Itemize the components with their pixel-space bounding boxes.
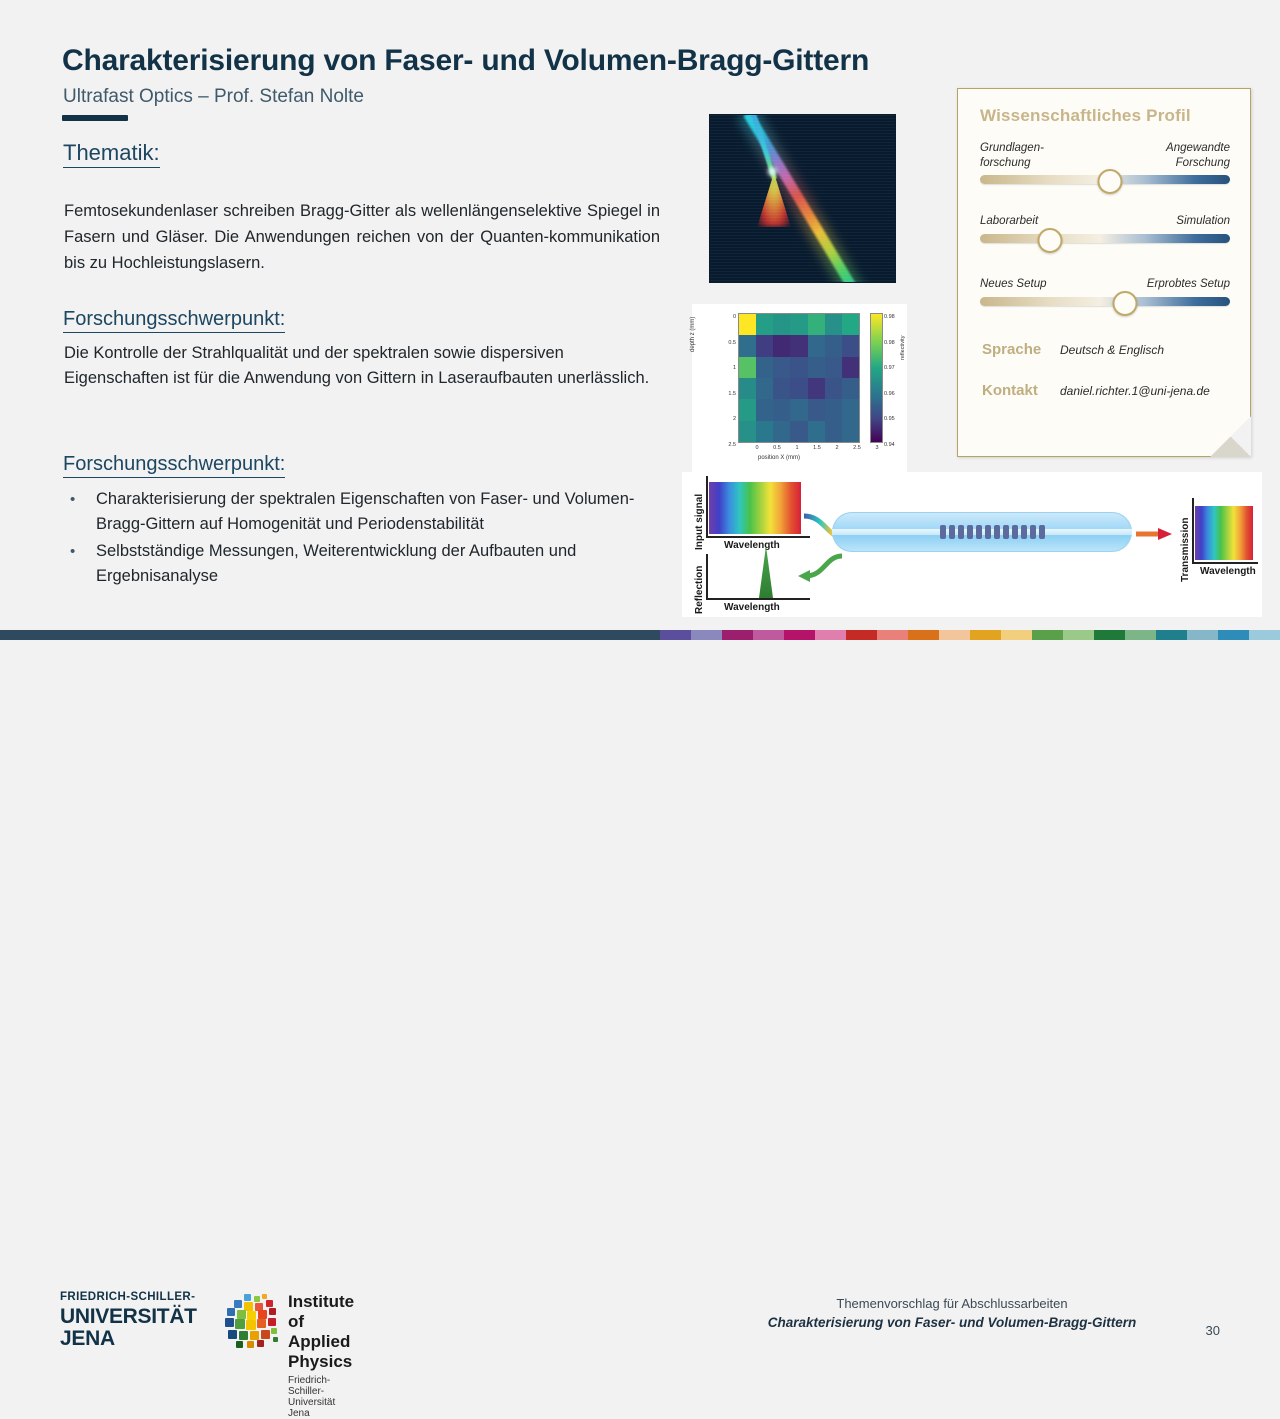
list-item: • Selbstständige Messungen, Weiterentwic… (64, 539, 664, 589)
page-title: Charakterisierung von Faser- und Volumen… (62, 44, 869, 78)
institute-mosaic-icon (224, 1294, 280, 1346)
slider-track-research-type[interactable] (980, 175, 1230, 184)
profile-field-language: SpracheDeutsch & Englisch (982, 341, 1164, 358)
university-logo-line1: FRIEDRICH-SCHILLER- (60, 1292, 197, 1304)
title-accent-bar (62, 115, 128, 121)
bullet-icon: • (70, 539, 75, 564)
heatmap-x-axis-label: position X (mm) (758, 455, 800, 461)
input-y-axis (706, 476, 708, 538)
section-heading-focus-1: Forschungsschwerpunkt: (63, 308, 285, 333)
university-logo-line3: JENA (60, 1328, 197, 1349)
profile-field-contact-key: Kontakt (982, 382, 1060, 399)
profile-card-title: Wissenschaftliches Profil (980, 106, 1191, 126)
profile-field-language-value: Deutsch & Englisch (1060, 343, 1164, 357)
bragg-grating-planes (940, 524, 1060, 540)
thematik-paragraph: Femtosekundenlaser schreiben Bragg-Gitte… (64, 198, 660, 276)
input-spectrum-swatch (709, 482, 801, 534)
card-folded-corner (1210, 416, 1251, 457)
university-logo-line2: UNIVERSITÄT (60, 1306, 197, 1327)
slider-left-label: Neues Setup (980, 277, 1047, 292)
footer: FRIEDRICH-SCHILLER- UNIVERSITÄT JENA Ins… (0, 640, 1280, 720)
slider-group-work-mode: Laborarbeit Simulation (980, 214, 1230, 243)
page-subtitle: Ultrafast Optics – Prof. Stefan Nolte (63, 86, 364, 108)
reflectivity-heatmap-figure: 00.511.522.5 00.511.522.53 depth z (mm) … (692, 304, 907, 476)
footer-caption-top: Themenvorschlag für Abschlussarbeiten (742, 1296, 1162, 1311)
profile-field-contact: Kontaktdaniel.richter.1@uni-jena.de (982, 382, 1210, 399)
profile-field-contact-value[interactable]: daniel.richter.1@uni-jena.de (1060, 384, 1210, 398)
fbg-input-wavelength-label: Wavelength (724, 540, 780, 551)
reflection-peak (759, 546, 773, 598)
slider-right-label: AngewandteForschung (1166, 141, 1230, 171)
institute-logo-text: Institute of Applied Physics Friedrich-S… (288, 1292, 354, 1419)
reflection-plot-area (709, 554, 807, 598)
slider-right-label: Simulation (1176, 214, 1230, 229)
footer-color-stripe (0, 630, 1280, 640)
footer-caption: Themenvorschlag für Abschlussarbeiten Ch… (742, 1296, 1162, 1330)
transmission-x-axis (1192, 562, 1258, 564)
list-item-label: Selbstständige Messungen, Weiterentwickl… (96, 542, 576, 585)
slider-left-label: Grundlagen-forschung (980, 141, 1044, 171)
institute-logo-line3: Friedrich-Schiller-Universität Jena (288, 1375, 354, 1419)
list-item-label: Charakterisierung der spektralen Eigensc… (96, 490, 634, 533)
reflection-y-axis (706, 554, 708, 600)
page-number: 30 (1206, 1323, 1220, 1338)
fbg-reflection-label: Reflection (694, 566, 705, 614)
heatmap-y-ticks: 00.511.522.5 (714, 310, 736, 442)
scanline-overlay (710, 115, 895, 282)
heatmap-colorbar (871, 314, 882, 442)
slide-root: Charakterisierung von Faser- und Volumen… (0, 0, 1280, 720)
heatmap-plot-area (739, 314, 859, 442)
slider-track-setup-maturity[interactable] (980, 297, 1230, 306)
slider-knob-setup-maturity[interactable] (1113, 291, 1138, 316)
input-x-axis (706, 536, 810, 538)
fbg-input-signal-label: Input signal (694, 494, 705, 550)
slider-track-work-mode[interactable] (980, 234, 1230, 243)
transmission-spectrum-swatch (1195, 506, 1253, 560)
heatmap-y-axis-label: depth z (mm) (690, 317, 696, 352)
scientific-profile-card: Wissenschaftliches Profil Grundlagen-for… (957, 88, 1251, 457)
fbg-transmission-wavelength-label: Wavelength (1200, 566, 1256, 577)
slider-knob-research-type[interactable] (1098, 169, 1123, 194)
institute-logo-line2: Applied Physics (288, 1332, 354, 1372)
list-item: • Charakterisierung der spektralen Eigen… (64, 487, 664, 537)
slider-right-label: Erprobtes Setup (1147, 277, 1230, 292)
transmission-y-axis (1192, 498, 1194, 564)
section-heading-focus-2: Forschungsschwerpunkt: (63, 453, 285, 478)
focus-1-paragraph: Die Kontrolle der Strahlqualität und der… (64, 341, 652, 391)
heatmap-x-ticks: 00.511.522.53 (732, 445, 866, 455)
reflection-x-axis (706, 598, 810, 600)
bullet-icon: • (70, 487, 75, 512)
fbg-transmission-label: Transmission (1180, 518, 1191, 582)
profile-field-language-key: Sprache (982, 341, 1060, 358)
section-heading-thematik: Thematik: (63, 140, 160, 168)
fbg-principle-diagram: Input signal Wavelength Reflection Wavel… (682, 472, 1262, 617)
heatmap-colorbar-label: reflectivity (900, 336, 906, 360)
heatmap-colorbar-ticks: 0.980.980.970.960.950.94 (884, 310, 910, 442)
fiber-photograph (710, 115, 895, 282)
slider-left-label: Laborarbeit (980, 214, 1038, 229)
slider-knob-work-mode[interactable] (1038, 228, 1063, 253)
university-logo: FRIEDRICH-SCHILLER- UNIVERSITÄT JENA (60, 1292, 197, 1349)
slider-group-setup-maturity: Neues Setup Erprobtes Setup (980, 277, 1230, 306)
institute-logo-line1: Institute of (288, 1292, 354, 1332)
footer-caption-bottom: Charakterisierung von Faser- und Volumen… (742, 1315, 1162, 1330)
focus-2-bullet-list: • Charakterisierung der spektralen Eigen… (64, 487, 664, 591)
fbg-reflection-wavelength-label: Wavelength (724, 602, 780, 613)
slider-group-research-type: Grundlagen-forschung AngewandteForschung (980, 141, 1230, 184)
